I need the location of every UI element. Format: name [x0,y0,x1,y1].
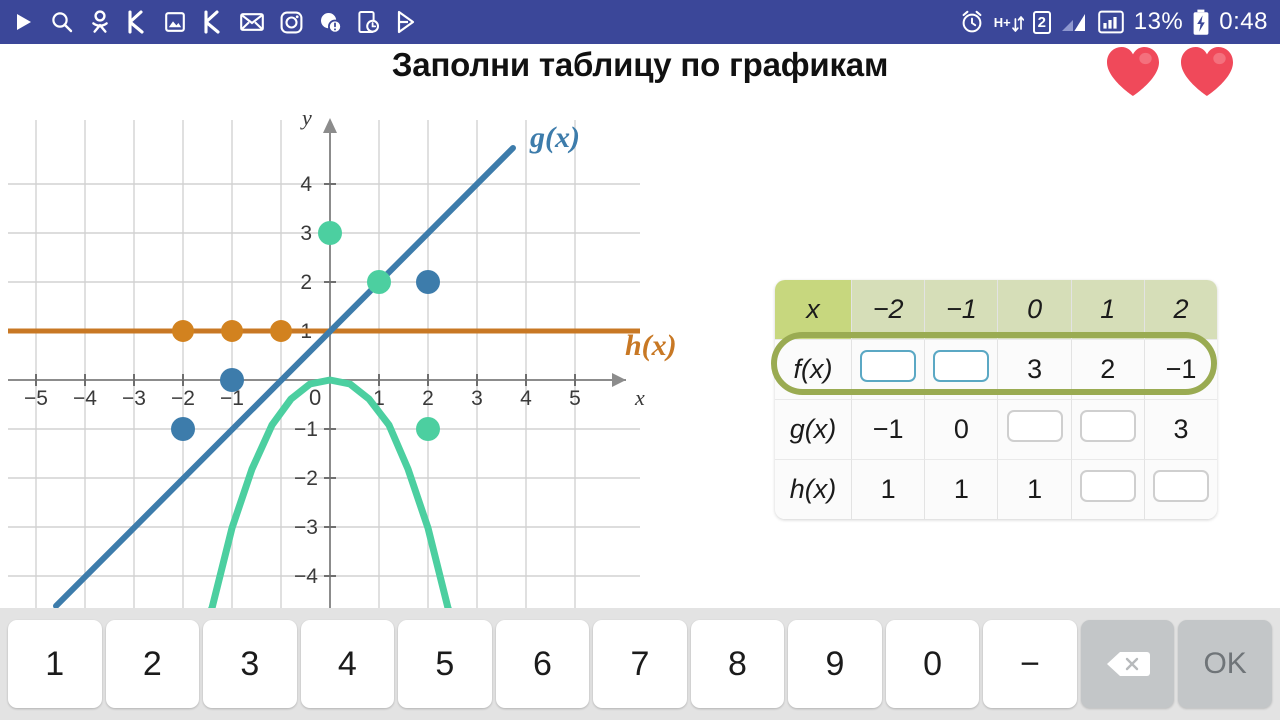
answer-input-f-xm2[interactable] [860,350,916,382]
signal-strength-icon-1 [1060,10,1088,34]
key-3[interactable]: 3 [203,620,297,708]
key-2[interactable]: 2 [106,620,200,708]
svg-text:−3: −3 [294,516,318,539]
svg-text:4: 4 [300,173,312,196]
series-h-label: h(x) [625,329,677,362]
answer-input-g-x0[interactable] [1007,410,1063,442]
cell-g-xm2: −1 [852,400,925,460]
key-5[interactable]: 5 [398,620,492,708]
play-icon [12,11,34,33]
svg-text:5: 5 [569,387,581,410]
signal-strength-icon-2 [1097,9,1125,35]
svg-text:−3: −3 [122,387,146,410]
svg-text:−1: −1 [294,418,318,441]
network-type-indicator: H+ [994,12,1024,32]
heart-icon [1104,44,1162,100]
answer-input-f-xm1[interactable] [933,350,989,382]
svg-text:3: 3 [300,222,312,245]
answer-input-h-x2[interactable] [1153,470,1209,502]
graph-grid [8,120,640,620]
table-col-header: −2 [852,280,925,340]
cell-f-x0: 3 [998,340,1071,400]
numeric-keyboard: 1 2 3 4 5 6 7 8 9 0 − OK [0,608,1280,720]
cell-h-xm2: 1 [852,460,925,519]
table-col-header: 1 [1072,280,1145,340]
cell-h-x0: 1 [998,460,1071,519]
mail-icon [240,12,264,32]
table-col-header: 0 [998,280,1071,340]
series-h-points [172,320,292,342]
svg-text:4: 4 [520,387,532,410]
svg-text:−5: −5 [24,387,48,410]
key-minus[interactable]: − [983,620,1077,708]
lives-indicator [1104,44,1236,100]
cell-h-x2[interactable] [1145,460,1217,519]
page-title: Заполни таблицу по графикам [0,46,1280,84]
network-type-label: H+ [994,16,1011,29]
series-g-label: g(x) [529,121,580,154]
battery-charging-icon [1192,9,1210,36]
y-axis-arrow [323,118,337,133]
key-0[interactable]: 0 [886,620,980,708]
svg-text:3: 3 [471,387,483,410]
cell-h-x1[interactable] [1072,460,1145,519]
app-screen: H+ 2 13% 0:48 Заполни таблицу по графика… [0,0,1280,720]
key-4[interactable]: 4 [301,620,395,708]
svg-text:−4: −4 [73,387,97,410]
key-6[interactable]: 6 [496,620,590,708]
svg-text:2: 2 [300,271,312,294]
answer-table: x −2 −1 0 1 2 f(x) 3 2 −1 g(x) −1 0 [775,280,1217,519]
cell-f-xm1[interactable] [925,340,998,400]
play-store-icon [395,10,417,34]
x-axis-label: x [634,385,645,410]
table-header-row: x −2 −1 0 1 2 [775,280,1217,340]
backspace-button[interactable] [1081,620,1175,708]
table-col-header: 2 [1145,280,1217,340]
instagram-icon [280,11,303,34]
svg-text:−2: −2 [294,467,318,490]
cell-h-xm1: 1 [925,460,998,519]
svg-text:−4: −4 [294,565,318,588]
key-8[interactable]: 8 [691,620,785,708]
clock-badge-icon [319,11,342,34]
table-row-h: h(x) 1 1 1 [775,460,1217,519]
table-row-g: g(x) −1 0 3 [775,400,1217,460]
key-7[interactable]: 7 [593,620,687,708]
clock-label: 0:48 [1219,10,1268,34]
row-label-g: g(x) [775,400,852,460]
backspace-icon [1105,649,1151,679]
answer-table-wrapper: x −2 −1 0 1 2 f(x) 3 2 −1 g(x) −1 0 [775,280,1217,519]
svg-text:−2: −2 [171,387,195,410]
row-label-f: f(x) [775,340,852,400]
battery-percent-label: 13% [1134,10,1184,34]
odnoklassniki-icon [90,10,110,34]
device-clock-icon [358,10,379,34]
x-axis-arrow [612,373,626,387]
series-g-line [56,148,513,606]
cell-g-x1[interactable] [1072,400,1145,460]
alarm-clock-icon [959,9,985,35]
gallery-icon [164,10,186,34]
status-bar: H+ 2 13% 0:48 [0,0,1280,44]
answer-input-g-x1[interactable] [1080,410,1136,442]
heart-icon [1178,44,1236,100]
sim-slot-indicator: 2 [1033,11,1051,34]
status-bar-system-icons: H+ 2 13% 0:48 [959,9,1268,36]
answer-input-h-x1[interactable] [1080,470,1136,502]
status-bar-notification-icons [12,10,959,34]
ok-button[interactable]: OK [1178,620,1272,708]
function-graph: y x 0 −5 −4 −3 −2 −1 1 2 3 4 5 4 3 2 1 [0,100,680,620]
cell-g-x2: 3 [1145,400,1217,460]
table-corner-x-label: x [775,280,852,340]
y-axis-label: y [300,105,312,130]
table-col-header: −1 [925,280,998,340]
cell-f-xm2[interactable] [852,340,925,400]
key-9[interactable]: 9 [788,620,882,708]
cell-f-x1: 2 [1072,340,1145,400]
cell-g-xm1: 0 [925,400,998,460]
vk-k-icon [126,10,148,34]
svg-text:2: 2 [422,387,434,410]
vk-k-icon-2 [202,10,224,34]
search-icon [50,10,74,34]
key-1[interactable]: 1 [8,620,102,708]
cell-g-x0[interactable] [998,400,1071,460]
row-label-h: h(x) [775,460,852,519]
origin-label: 0 [309,385,321,410]
cell-f-x2: −1 [1145,340,1217,400]
table-row-f: f(x) 3 2 −1 [775,340,1217,400]
